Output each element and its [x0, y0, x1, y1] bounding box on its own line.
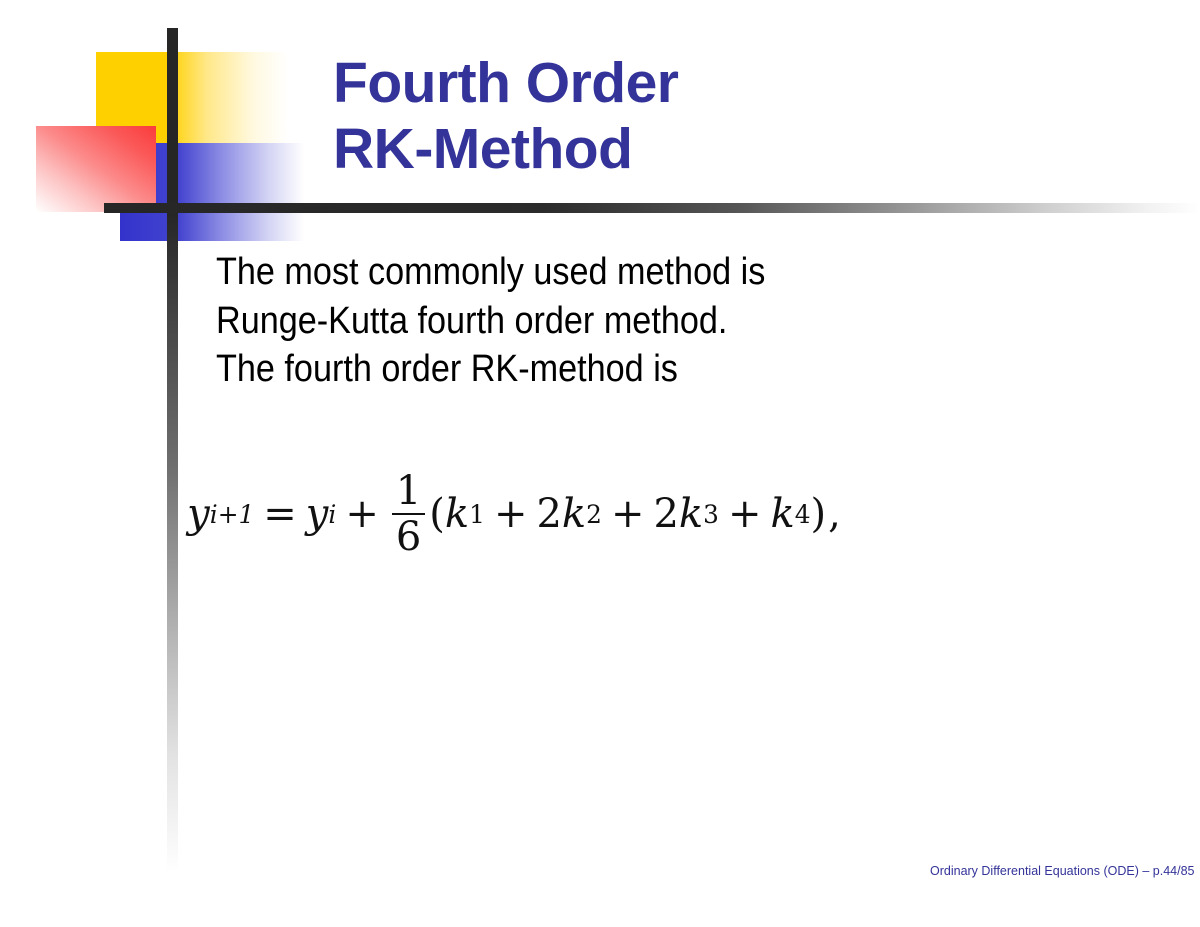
formula-plus-sign-4: +: [728, 491, 762, 537]
formula-fraction-one-sixth: 1 6: [392, 470, 425, 559]
formula-open-paren: (: [429, 491, 445, 537]
formula-k4-variable: k: [770, 491, 794, 537]
formula-k3-variable: k: [679, 491, 703, 537]
formula-k4-subscript: 4: [795, 500, 811, 529]
formula-k1-variable: k: [445, 491, 469, 537]
formula-expression: yi+1 = yi + 1 6 ( k1 + 2k2 + 2k3 + k4 ),: [187, 470, 843, 559]
formula-k1-subscript: 1: [469, 500, 485, 529]
decorative-horizontal-rule: [104, 203, 1200, 213]
formula-k2-subscript: 2: [586, 500, 602, 529]
formula-fraction-numerator: 1: [392, 470, 425, 513]
formula-k2-variable: k: [562, 491, 586, 537]
formula-rhs-variable: y: [306, 491, 329, 537]
formula-lhs-subscript: i+1: [210, 500, 254, 529]
formula-lhs-variable: y: [187, 491, 210, 537]
slide-body: The most commonly used method is Runge-K…: [216, 248, 1076, 394]
formula-close-paren: ): [810, 491, 826, 537]
formula-k2-coefficient: 2: [536, 491, 561, 537]
slide-canvas: Fourth Order RK-Method The most commonly…: [0, 0, 1200, 927]
decorative-vertical-bar: [167, 28, 178, 873]
formula-plus-sign-1: +: [345, 491, 379, 537]
rk4-formula: yi+1 = yi + 1 6 ( k1 + 2k2 + 2k3 + k4 ),: [0, 470, 1030, 559]
slide-title: Fourth Order RK-Method: [333, 50, 1033, 182]
formula-trailing-comma: ,: [828, 491, 841, 537]
decorative-red-rectangle: [36, 126, 156, 212]
formula-plus-sign-3: +: [611, 491, 645, 537]
formula-k3-subscript: 3: [703, 500, 719, 529]
slide-footer: Ordinary Differential Equations (ODE) – …: [930, 864, 1194, 878]
formula-plus-sign-2: +: [494, 491, 528, 537]
formula-rhs-subscript: i: [328, 500, 336, 529]
body-paragraph-2: The fourth order RK-method is: [216, 345, 990, 394]
body-paragraph-1: The most commonly used method is Runge-K…: [216, 248, 990, 345]
formula-equals-sign: =: [263, 491, 297, 537]
formula-fraction-denominator: 6: [392, 515, 425, 558]
formula-k3-coefficient: 2: [653, 491, 678, 537]
